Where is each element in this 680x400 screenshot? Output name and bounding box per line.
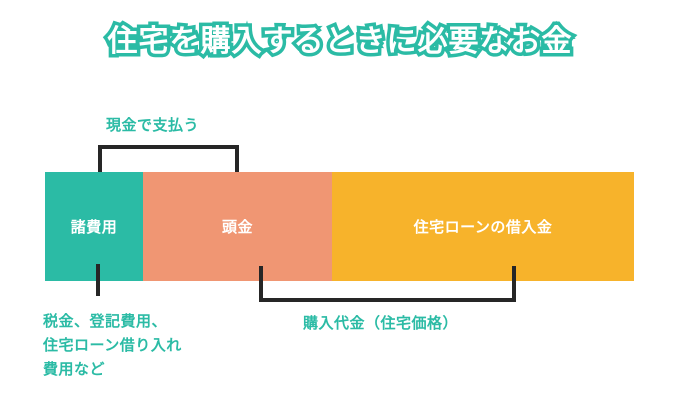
cost-breakdown-bar: 諸費用 頭金 住宅ローンの借入金 [45, 172, 634, 281]
bar-segment-fees: 諸費用 [45, 172, 143, 281]
bar-segment-down-payment: 頭金 [143, 172, 332, 281]
fees-leader-tick [96, 264, 100, 296]
bottom-bracket-right-leg [512, 266, 516, 302]
page-title: 住宅を購入するときに必要なお金 [0, 22, 680, 62]
bottom-bracket-horizontal-line [259, 298, 516, 302]
fees-detail-text: 税金、登記費用、 住宅ローン借り入れ 費用など [43, 310, 182, 382]
top-bracket-label: 現金で支払う [106, 114, 199, 135]
fees-detail-line-1: 税金、登記費用、 [43, 310, 182, 334]
bar-segment-down-payment-label: 頭金 [222, 216, 253, 237]
top-bracket-horizontal-line [98, 145, 239, 149]
bottom-bracket-label: 購入代金（住宅価格） [303, 312, 458, 333]
fees-detail-line-2: 住宅ローン借り入れ [43, 334, 182, 358]
bar-segment-mortgage-loan-label: 住宅ローンの借入金 [414, 216, 553, 237]
fees-detail-line-3: 費用など [43, 358, 182, 382]
bottom-bracket-left-leg [259, 266, 263, 302]
infographic-canvas: 住宅を購入するときに必要なお金 現金で支払う 諸費用 頭金 住宅ローンの借入金 … [0, 0, 680, 400]
bar-segment-mortgage-loan: 住宅ローンの借入金 [332, 172, 634, 281]
bar-segment-fees-label: 諸費用 [71, 216, 118, 237]
